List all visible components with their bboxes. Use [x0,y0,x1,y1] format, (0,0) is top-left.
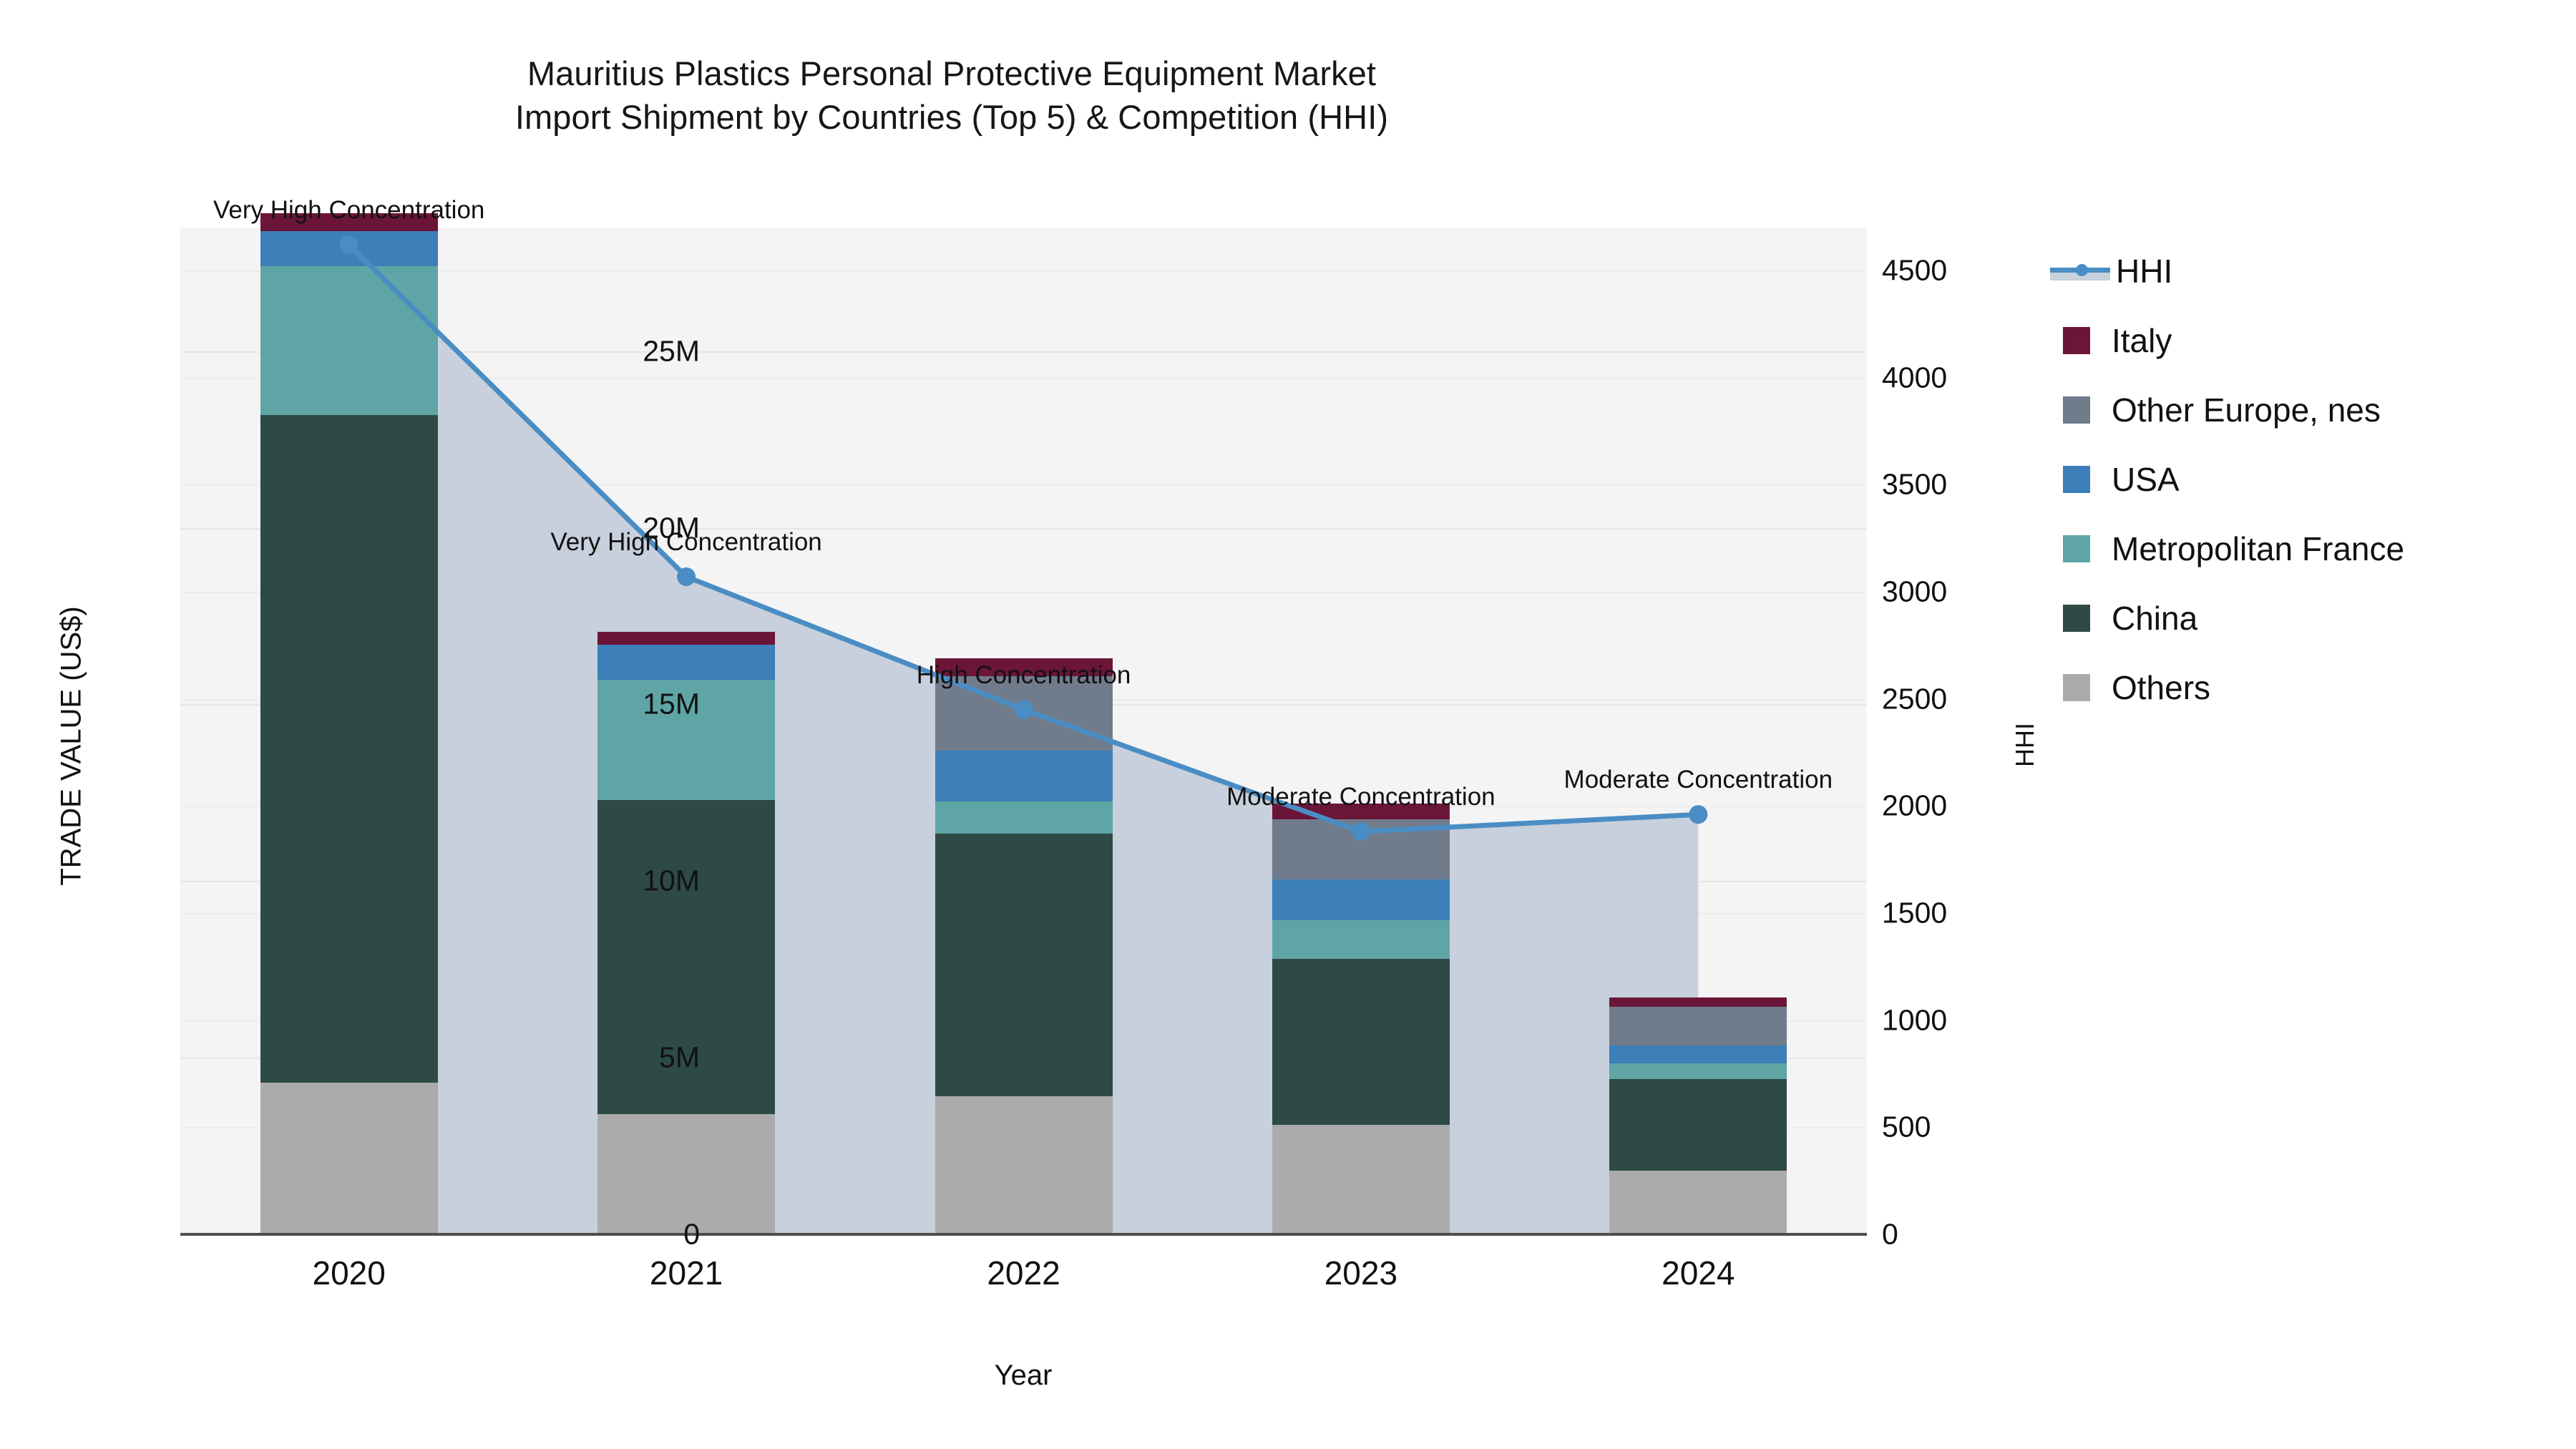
legend-label: Italy [2112,321,2172,360]
plot-inner: Very High ConcentrationVery High Concent… [180,228,1867,1234]
legend-swatch-icon [2063,674,2090,701]
annotation-2024: Moderate Concentration [1564,766,1833,794]
y2-axis-tick-2000: 2000 [1882,789,1947,823]
y2-axis-tick-0: 0 [1882,1218,1898,1252]
bar-group-2022[interactable] [935,228,1113,1234]
bar-segment-metropolitan-france-2023[interactable] [1272,920,1450,959]
bar-segment-others-2024[interactable] [1609,1171,1787,1234]
annotation-2022: High Concentration [917,661,1131,690]
x-axis-title: Year [0,1360,2046,1392]
y2-axis-tick-500: 500 [1882,1111,1931,1144]
y-axis-tick-15M: 15M [643,688,700,721]
legend-item-usa[interactable]: USA [2050,444,2551,514]
page-title: Mauritius Plastics Personal Protective E… [0,52,1903,139]
y2-axis-tick-4000: 4000 [1882,361,1947,394]
y2-axis-tick-1000: 1000 [1882,1003,1947,1037]
legend-item-other-europe-nes[interactable]: Other Europe, nes [2050,375,2551,444]
legend-item-others[interactable]: Others [2050,653,2551,722]
legend-label: Metropolitan France [2112,530,2404,568]
plot-area: Very High ConcentrationVery High Concent… [180,228,1867,1234]
x-axis-tick-2024: 2024 [1662,1254,1735,1292]
bar-segment-china-2022[interactable] [935,834,1113,1097]
legend-line-marker-icon [2050,258,2110,285]
bar-segment-usa-2023[interactable] [1272,879,1450,920]
y2-axis-tick-2500: 2500 [1882,682,1947,716]
legend-label: Other Europe, nes [2112,391,2381,429]
legend: HHIItalyOther Europe, nesUSAMetropolitan… [2050,236,2551,722]
bar-segment-metropolitan-france-2024[interactable] [1609,1063,1787,1079]
bar-segment-metropolitan-france-2022[interactable] [935,801,1113,833]
bar-segment-other-europe-nes-2023[interactable] [1272,819,1450,879]
legend-label: China [2112,599,2197,638]
bar-segment-china-2020[interactable] [260,415,438,1083]
y-axis-tick-10M: 10M [643,864,700,898]
legend-label: HHI [2116,252,2172,291]
bar-segment-others-2023[interactable] [1272,1125,1450,1234]
annotation-2023: Moderate Concentration [1226,783,1496,811]
title-line-1: Mauritius Plastics Personal Protective E… [0,52,1903,95]
bar-segment-italy-2024[interactable] [1609,997,1787,1006]
legend-item-italy[interactable]: Italy [2050,306,2551,375]
legend-swatch-icon [2063,396,2090,424]
y-axis-left-title: TRADE VALUE (US$) [56,525,88,968]
x-axis-tick-2020: 2020 [313,1254,386,1292]
annotation-2020: Very High Concentration [213,196,484,225]
y2-axis-tick-3000: 3000 [1882,575,1947,608]
legend-item-metropolitan-france[interactable]: Metropolitan France [2050,514,2551,583]
y2-axis-tick-1500: 1500 [1882,896,1947,930]
legend-swatch-icon [2063,535,2090,562]
legend-swatch-icon [2063,605,2090,632]
y2-axis-tick-4500: 4500 [1882,253,1947,287]
bar-group-2021[interactable] [597,228,775,1234]
bar-segment-usa-2022[interactable] [935,751,1113,802]
bar-group-2020[interactable] [260,228,438,1234]
legend-item-china[interactable]: China [2050,583,2551,653]
bar-segment-metropolitan-france-2020[interactable] [260,266,438,414]
x-axis-tick-2023: 2023 [1324,1254,1397,1292]
legend-swatch-icon [2063,466,2090,493]
x-axis-tick-2022: 2022 [987,1254,1060,1292]
bar-segment-china-2023[interactable] [1272,959,1450,1125]
legend-swatch-icon [2063,327,2090,354]
bar-group-2023[interactable] [1272,228,1450,1234]
x-axis-line [180,1233,1867,1236]
y2-axis-tick-3500: 3500 [1882,468,1947,502]
bar-segment-others-2021[interactable] [597,1114,775,1234]
bar-group-2024[interactable] [1609,228,1787,1234]
title-line-2: Import Shipment by Countries (Top 5) & C… [0,95,1903,139]
y-axis-right-title: HHI [2010,673,2040,816]
legend-label: USA [2112,460,2180,499]
x-axis-tick-2021: 2021 [650,1254,723,1292]
bar-segment-italy-2021[interactable] [597,632,775,644]
y-axis-tick-25M: 25M [643,334,700,368]
bar-segment-usa-2024[interactable] [1609,1045,1787,1063]
bar-segment-china-2024[interactable] [1609,1079,1787,1171]
bar-segment-others-2022[interactable] [935,1096,1113,1234]
y-axis-tick-0: 0 [683,1218,700,1252]
legend-item-hhi[interactable]: HHI [2050,236,2551,306]
y-axis-tick-20M: 20M [643,511,700,545]
legend-label: Others [2112,668,2210,707]
bar-segment-other-europe-nes-2024[interactable] [1609,1007,1787,1045]
bar-segment-usa-2021[interactable] [597,645,775,680]
y-axis-tick-5M: 5M [659,1041,700,1075]
bar-segment-others-2020[interactable] [260,1083,438,1234]
bar-segment-usa-2020[interactable] [260,231,438,266]
